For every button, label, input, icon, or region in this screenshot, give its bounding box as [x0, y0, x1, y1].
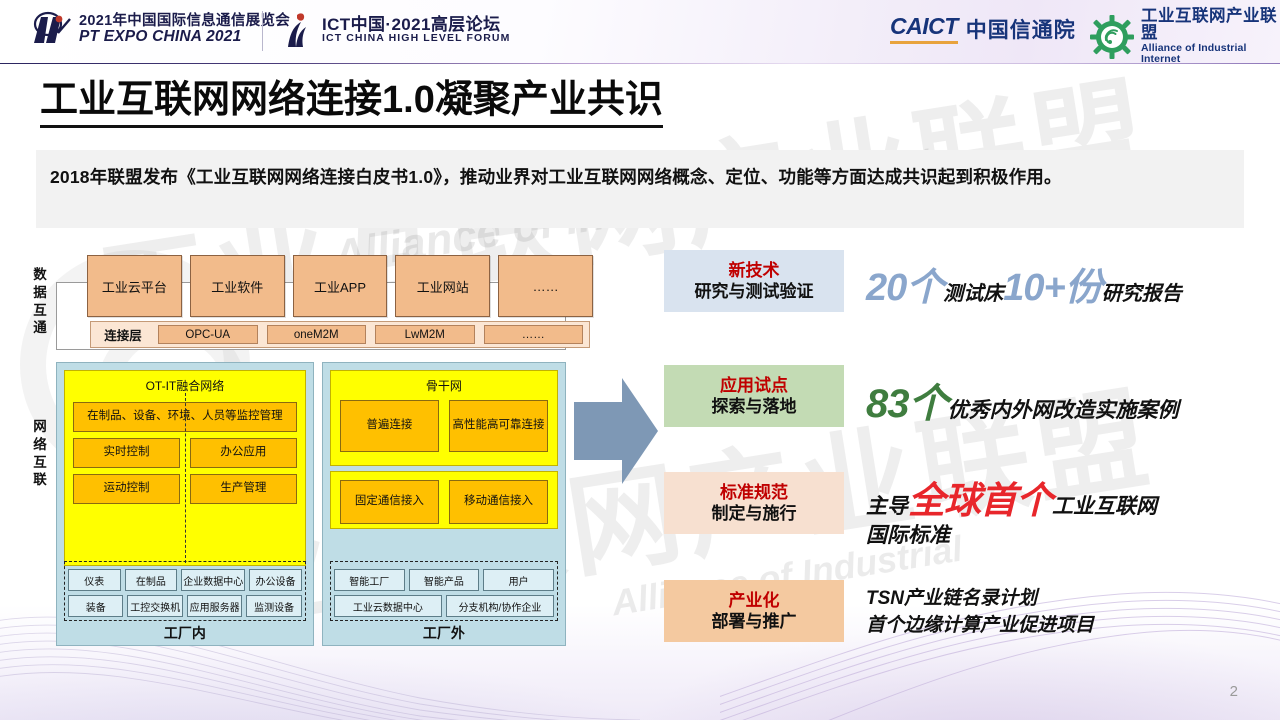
metric-cases-count: 83个: [866, 382, 948, 426]
industrialization-line-2: 首个边缘计算产业促进项目: [866, 613, 1094, 640]
connection-protocol-item: OPC-UA: [158, 325, 258, 344]
device-tag: 办公设备: [249, 569, 302, 591]
inside-factory-panel: OT-IT融合网络 在制品、设备、环境、人员等监控管理 实时控制 办公应用 运动…: [56, 362, 314, 646]
standards-international-label: 国际标准: [866, 524, 950, 547]
device-tag: 监测设备: [246, 595, 301, 617]
pillar-title: 应用试点: [720, 375, 788, 396]
connection-layer-row: 连接层 OPC-UA oneM2M LwM2M ……: [90, 321, 590, 348]
metric-testbeds-count: 20个: [866, 267, 943, 309]
outcome-row-standards: 标准规范 制定与施行 主导全球首个工业互联网 国际标准: [664, 472, 1264, 549]
aii-label-cn: 工业互联网产业联盟: [1141, 8, 1280, 43]
pillar-subtitle: 探索与落地: [712, 396, 797, 417]
header-divider-rule: [0, 63, 1280, 64]
industrialization-line-1: TSN产业链名录计划: [866, 586, 1094, 613]
page-number: 2: [1230, 683, 1238, 700]
ict-forum-logo: ICT中国·2021高层论坛 ICT CHINA HIGH LEVEL FORU…: [283, 9, 510, 51]
ict-forum-title-en: ICT CHINA HIGH LEVEL FORUM: [322, 33, 510, 44]
aii-logo: 工业互联网产业联盟 Alliance of Industrial Interne…: [1090, 8, 1280, 65]
device-tag: 工控交换机: [127, 595, 182, 617]
right-arrow-icon: [574, 378, 658, 489]
zone-split-dashed-line: [185, 393, 186, 563]
device-tag: 企业数据中心: [181, 569, 245, 591]
outcomes-column: 新技术 研究与测试验证 20个测试床10+份研究报告 应用试点 探索与落地 83…: [664, 250, 1264, 662]
outcome-description-industrialization: TSN产业链名录计划 首个边缘计算产业促进项目: [866, 580, 1094, 640]
outcome-description-application-pilot: 83个优秀内外网改造实施案例: [866, 365, 1179, 429]
pillar-subtitle: 制定与施行: [712, 503, 797, 524]
slide-header: 2021年中国国际信息通信展览会 PT EXPO CHINA 2021 ICT中…: [0, 0, 1280, 63]
pt-logo-icon: [28, 9, 72, 51]
standards-domain-label: 工业互联网: [1052, 495, 1157, 518]
entity-tag: 用户: [483, 569, 554, 591]
app-box: 工业云平台: [87, 255, 182, 317]
architecture-diagram: 数据互通 网络互联 工业云平台 工业软件 工业APP 工业网站 …… 连接层 O…: [28, 248, 568, 648]
backbone-zone-title: 骨干网: [337, 375, 551, 398]
universal-connection-box: 普遍连接: [340, 400, 439, 452]
entity-tag: 智能工厂: [334, 569, 405, 591]
slide-canvas: 工业互联网产业联盟 工业互联网产业联盟 Alliance of Industri…: [0, 0, 1280, 720]
intro-paragraph: 2018年联盟发布《工业互联网网络连接白皮书1.0》，推动业界对工业互联网网络概…: [36, 150, 1244, 228]
ict-forum-title-cn: ICT中国·2021高层论坛: [322, 16, 510, 34]
fixed-access-box: 固定通信接入: [340, 480, 439, 524]
connection-protocol-item: LwM2M: [375, 325, 475, 344]
metric-testbeds-label: 测试床: [943, 283, 1003, 305]
pillar-standards: 标准规范 制定与施行: [664, 472, 844, 534]
ict-logo-icon: [283, 9, 313, 51]
office-application-box: 办公应用: [190, 438, 297, 468]
outcome-row-new-technology: 新技术 研究与测试验证 20个测试床10+份研究报告: [664, 250, 1264, 312]
connection-layer-label: 连接层: [97, 325, 149, 344]
caict-label-en: CAICT: [890, 13, 958, 44]
pillar-new-technology: 新技术 研究与测试验证: [664, 250, 844, 312]
pillar-subtitle: 部署与推广: [712, 611, 797, 632]
metric-reports-label: 研究报告: [1102, 283, 1182, 305]
device-tag: 装备: [68, 595, 123, 617]
app-box: ……: [498, 255, 593, 317]
standards-lead-label: 主导: [866, 495, 908, 518]
outcome-row-industrialization: 产业化 部署与推广 TSN产业链名录计划 首个边缘计算产业促进项目: [664, 580, 1264, 642]
pillar-application-pilot: 应用试点 探索与落地: [664, 365, 844, 427]
realtime-control-box: 实时控制: [73, 438, 180, 468]
app-box: 工业网站: [395, 255, 490, 317]
pillar-title: 新技术: [729, 260, 780, 281]
gear-wifi-icon: [1090, 15, 1134, 59]
outside-factory-entities: 智能工厂 智能产品 用户 工业云数据中心 分支机构/协作企业: [330, 561, 558, 621]
production-management-box: 生产管理: [190, 474, 297, 504]
app-box: 工业APP: [293, 255, 388, 317]
high-performance-connection-box: 高性能高可靠连接: [449, 400, 548, 452]
caict-label-cn: 中国信通院: [966, 14, 1076, 44]
motion-control-box: 运动控制: [73, 474, 180, 504]
pillar-industrialization: 产业化 部署与推广: [664, 580, 844, 642]
entity-tag: 智能产品: [409, 569, 480, 591]
header-logo-separator: [262, 11, 263, 51]
standards-world-first-highlight: 全球首个: [908, 480, 1052, 521]
pillar-subtitle: 研究与测试验证: [695, 281, 814, 302]
device-tag: 应用服务器: [187, 595, 242, 617]
entity-tag: 工业云数据中心: [334, 595, 442, 617]
outcome-row-application-pilot: 应用试点 探索与落地 83个优秀内外网改造实施案例: [664, 365, 1264, 429]
caict-logo: CAICT 中国信通院: [890, 13, 1076, 44]
pillar-title: 标准规范: [720, 482, 788, 503]
device-tag: 在制品: [125, 569, 178, 591]
pt-expo-title-en: PT EXPO CHINA 2021: [79, 29, 290, 45]
pt-expo-title-cn: 2021年中国国际信息通信展览会: [79, 14, 290, 29]
outcome-description-standards: 主导全球首个工业互联网 国际标准: [866, 472, 1157, 549]
outside-factory-footer: 工厂外: [323, 623, 565, 643]
connection-protocol-item: oneM2M: [267, 325, 367, 344]
pillar-title: 产业化: [729, 590, 780, 611]
metric-reports-count: 10+份: [1003, 267, 1101, 309]
outcome-description-new-technology: 20个测试床10+份研究报告: [866, 250, 1182, 311]
pt-expo-logo: 2021年中国国际信息通信展览会 PT EXPO CHINA 2021: [28, 9, 290, 51]
access-network-zone: 固定通信接入 移动通信接入: [330, 471, 558, 529]
network-panels: OT-IT融合网络 在制品、设备、环境、人员等监控管理 实时控制 办公应用 运动…: [56, 362, 566, 646]
page-title: 工业互联网网络连接1.0凝聚产业共识: [40, 80, 663, 128]
aii-label-en: Alliance of Industrial Internet: [1141, 43, 1280, 65]
inside-factory-devices: 仪表 在制品 企业数据中心 办公设备 装备 工控交换机 应用服务器 监测设备: [64, 561, 306, 621]
connection-protocol-item: ……: [484, 325, 584, 344]
data-interop-block: 工业云平台 工业软件 工业APP 工业网站 …… 连接层 OPC-UA oneM…: [56, 282, 566, 350]
mobile-access-box: 移动通信接入: [449, 480, 548, 524]
app-box: 工业软件: [190, 255, 285, 317]
entity-tag: 分支机构/协作企业: [446, 595, 554, 617]
device-tag: 仪表: [68, 569, 121, 591]
metric-cases-label: 优秀内外网改造实施案例: [948, 399, 1179, 422]
diagram-side-label-network: 网络互联: [30, 418, 50, 489]
backbone-network-zone: 骨干网 普遍连接 高性能高可靠连接: [330, 370, 558, 466]
diagram-side-label-data: 数据互通: [30, 266, 50, 337]
outside-factory-panel: 骨干网 普遍连接 高性能高可靠连接 固定通信接入 移动通信接入 智能工厂: [322, 362, 566, 646]
ot-it-convergence-zone: OT-IT融合网络 在制品、设备、环境、人员等监控管理 实时控制 办公应用 运动…: [64, 370, 306, 566]
application-boxes-row: 工业云平台 工业软件 工业APP 工业网站 ……: [87, 255, 593, 317]
inside-factory-footer: 工厂内: [57, 623, 313, 643]
